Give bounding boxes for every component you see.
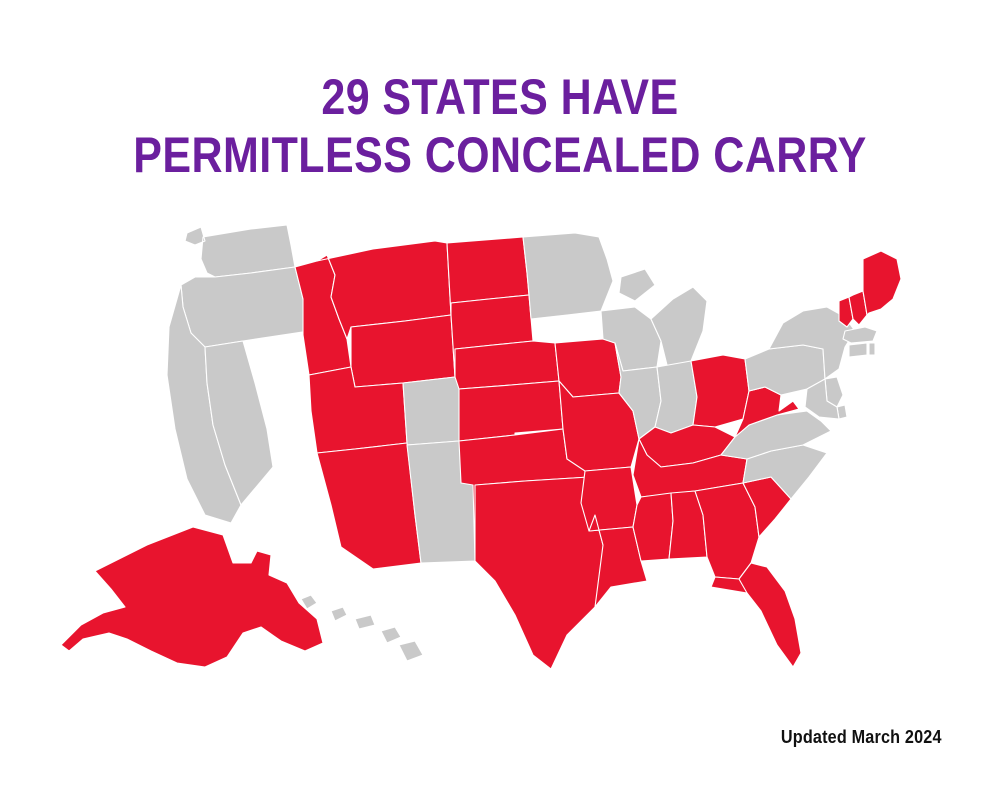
state-ak — [61, 527, 323, 667]
state-ct — [849, 343, 867, 357]
state-in — [655, 361, 697, 433]
state-mn — [523, 233, 613, 319]
state-ri — [869, 343, 875, 355]
state-fl — [711, 563, 801, 667]
state-me — [863, 251, 901, 315]
state-or — [181, 267, 309, 347]
state-oh — [691, 355, 749, 427]
infographic-canvas: 29 STATES HAVE PERMITLESS CONCEALED CARR… — [0, 0, 1000, 800]
state-wy — [351, 315, 455, 387]
states-layer — [61, 225, 901, 669]
state-ms — [633, 493, 673, 561]
state-ar — [581, 467, 637, 531]
us-choropleth-map — [55, 215, 955, 705]
title-line-1: 29 STATES HAVE — [70, 72, 930, 122]
us-map-svg — [55, 215, 955, 705]
page-title: 29 STATES HAVE PERMITLESS CONCEALED CARR… — [0, 72, 1000, 180]
state-az — [317, 443, 421, 569]
title-line-2: PERMITLESS CONCEALED CARRY — [70, 130, 930, 180]
updated-label: Updated March 2024 — [781, 727, 942, 748]
